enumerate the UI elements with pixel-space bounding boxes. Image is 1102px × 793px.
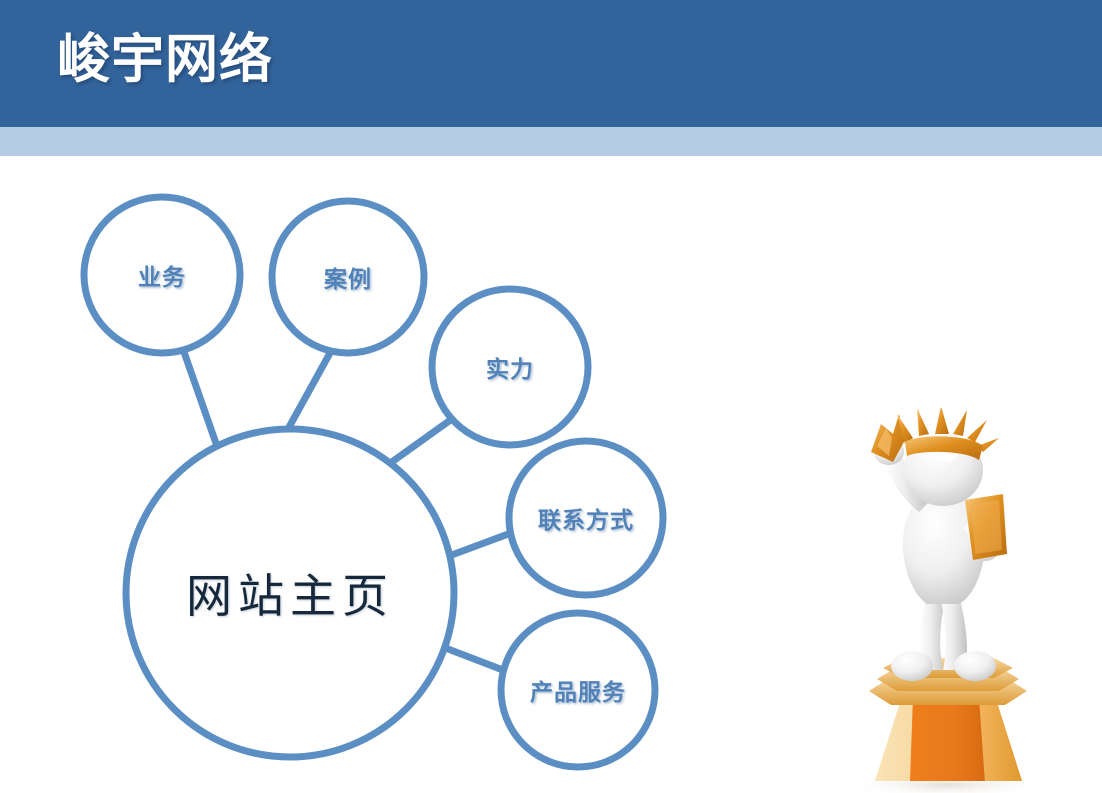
connector-center-to-shili [389,416,456,464]
circle-chanpin [501,613,655,767]
connector-center-to-yewu [184,352,218,449]
circle-center [126,429,454,757]
mascot-pedestal [869,658,1027,781]
page-title: 峻宇网络 [57,28,273,92]
circle-yewu [84,197,240,353]
liberty-mascot-icon [807,408,1102,793]
connector-center-to-lianxi [449,533,511,556]
mascot-crown [897,408,999,460]
radial-diagram: 网站主页 业务 案例 实力 联系方式 产品服务 [0,156,760,793]
node-circles [84,197,663,767]
circle-shili [432,289,588,445]
circle-anli [272,201,424,353]
circle-lianxi [509,441,663,595]
header-accent-band [0,127,1102,156]
mascot-legs [891,596,996,681]
slide-canvas: 峻宇网络 网站主页 业务 案例 实力 联系方式 产品服务 [0,0,1102,793]
connector-center-to-anli [288,353,330,429]
